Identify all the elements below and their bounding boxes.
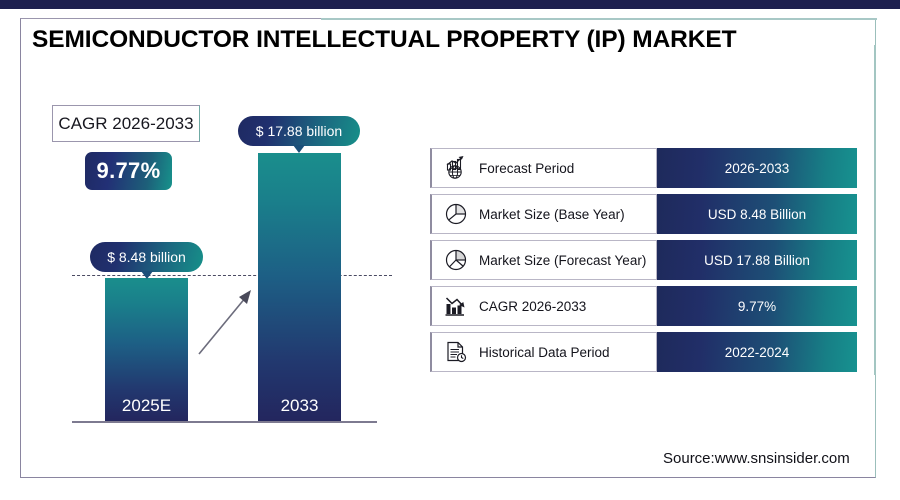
frame-accent-right [874, 45, 876, 375]
table-row-label-cell: Forecast Period [430, 148, 657, 188]
table-row-value: USD 17.88 Billion [704, 253, 810, 268]
baseline-dashed-line [72, 275, 392, 276]
table-row: Market Size (Base Year) USD 8.48 Billion [430, 194, 857, 234]
table-row-label: CAGR 2026-2033 [479, 299, 586, 314]
pie-chart-icon [441, 199, 471, 229]
bar-2033 [258, 153, 341, 421]
chart-axis-line [72, 421, 377, 423]
infographic-canvas: SEMICONDUCTOR INTELLECTUAL PROPERTY (IP)… [0, 0, 900, 500]
pie-chart-segments-icon [441, 245, 471, 275]
table-row-value-cell: USD 8.48 Billion [657, 194, 857, 234]
table-row-value: 2022-2024 [725, 345, 790, 360]
table-row-label-cell: CAGR 2026-2033 [430, 286, 657, 326]
table-row-value-cell: 2026-2033 [657, 148, 857, 188]
bar-chart-trend-icon [441, 291, 471, 321]
value-pill-text-2025e: $ 8.48 billion [107, 249, 186, 265]
bar-chart: 2025E 2033 $ 8.48 billion $ 17.88 billio… [0, 0, 420, 460]
globe-forecast-icon [441, 153, 471, 183]
table-row-label-cell: Historical Data Period [430, 332, 657, 372]
table-row: Market Size (Forecast Year) USD 17.88 Bi… [430, 240, 857, 280]
growth-arrow-icon [196, 285, 258, 357]
table-row-value: 9.77% [738, 299, 776, 314]
table-row-value-cell: 9.77% [657, 286, 857, 326]
table-row: CAGR 2026-2033 9.77% [430, 286, 857, 326]
value-pill-text-2033: $ 17.88 billion [256, 123, 342, 139]
document-clock-icon [441, 337, 471, 367]
table-row: Historical Data Period 2022-2024 [430, 332, 857, 372]
table-row: Forecast Period 2026-2033 [430, 148, 857, 188]
table-row-value-cell: 2022-2024 [657, 332, 857, 372]
table-row-label: Historical Data Period [479, 345, 610, 360]
table-row-label: Market Size (Base Year) [479, 207, 625, 222]
table-row-label: Forecast Period [479, 161, 574, 176]
bar-category-label-2033: 2033 [258, 396, 341, 416]
value-pill-2033: $ 17.88 billion [238, 116, 360, 146]
source-attribution: Source:www.snsinsider.com [663, 450, 850, 467]
table-row-label: Market Size (Forecast Year) [479, 253, 646, 268]
value-pill-2025e: $ 8.48 billion [90, 242, 203, 272]
table-row-label-cell: Market Size (Base Year) [430, 194, 657, 234]
table-row-value: 2026-2033 [725, 161, 790, 176]
table-row-value: USD 8.48 Billion [708, 207, 806, 222]
table-row-value-cell: USD 17.88 Billion [657, 240, 857, 280]
bar-category-label-2025e: 2025E [105, 396, 188, 416]
details-table: Forecast Period 2026-2033 Market Si [430, 148, 857, 378]
table-row-label-cell: Market Size (Forecast Year) [430, 240, 657, 280]
